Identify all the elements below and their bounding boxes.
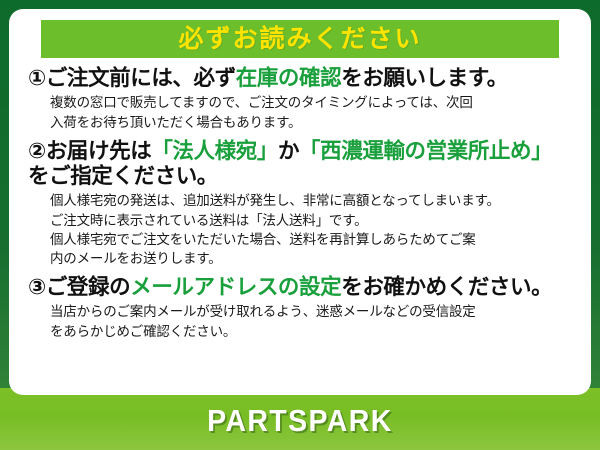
heading-text: をお確かめください。 [341,275,552,299]
notice-body-line: 複数の窓口で販売してますので、ご注文のタイミングによっては、次回 [50,93,572,112]
notice-item-heading: ①ご注文前には、必ず在庫の確認をお願いします。 [28,66,572,91]
notice-body-line: 入荷をお待ち頂いただく場合もあります。 [50,113,572,132]
notice-body-line: 当店からのご案内メールが受け取れるよう、迷惑メールなどの受信設定 [50,302,572,321]
notice-banner: PARTSPARK 必ずお読みください ①ご注文前には、必ず在庫の確認をお願いし… [0,0,600,450]
footer-band: PARTSPARK [0,388,600,450]
notice-body-line: 内のメールをお送りします。 [50,249,572,268]
notice-item: ③ご登録のメールアドレスの設定をお確かめください。当店からのご案内メールが受け取… [28,275,572,341]
notice-item-number: ③ [28,275,46,299]
notice-item-number: ① [28,66,46,90]
highlighted-phrase: 「西濃運輸の営業所止め」 [299,139,552,163]
highlighted-phrase: メールアドレスの設定 [130,275,341,299]
notice-body-line: ご注文時に表示されている送料は「法人送料」です。 [50,211,572,230]
page-title: 必ずお読みください [178,27,421,52]
notice-item-body: 個人様宅宛の発送は、追加送料が発生し、非常に高額となってしまいます。ご注文時に表… [28,191,572,268]
notice-card: 必ずお読みください ①ご注文前には、必ず在庫の確認をお願いします。複数の窓口で販… [9,9,591,395]
heading-text: をお願いします。 [341,66,508,90]
notice-item-number: ② [28,139,46,163]
heading-text: お届け先は [46,139,152,163]
heading-text: をご指定ください。 [28,164,218,188]
notice-item-body: 複数の窓口で販売してますので、ご注文のタイミングによっては、次回入荷をお待ち頂い… [28,93,572,131]
notice-item: ②お届け先は「法人様宛」か「西濃運輸の営業所止め」をご指定ください。個人様宅宛の… [28,139,572,268]
header-band: 必ずお読みください [41,20,559,58]
heading-text: ご注文前には、必ず [46,66,236,90]
highlighted-phrase: 「法人様宛」 [151,139,278,163]
notice-body-line: 個人様宅宛の発送は、追加送料が発生し、非常に高額となってしまいます。 [50,191,572,210]
notice-item: ①ご注文前には、必ず在庫の確認をお願いします。複数の窓口で販売してますので、ご注… [28,66,572,132]
highlighted-phrase: 在庫の確認 [236,66,342,90]
notice-body-line: 個人様宅宛でご注文をいただいた場合、送料を再計算しあらためてご案 [50,230,572,249]
notice-item-heading: ②お届け先は「法人様宛」か「西濃運輸の営業所止め」をご指定ください。 [28,139,572,190]
notice-body-line: をあらかじめご確認ください。 [50,322,572,341]
notice-item-body: 当店からのご案内メールが受け取れるよう、迷惑メールなどの受信設定をあらかじめご確… [28,302,572,340]
heading-text: ご登録の [46,275,130,299]
brand-logo-partspark: PARTSPARK [207,405,393,436]
notice-item-heading: ③ご登録のメールアドレスの設定をお確かめください。 [28,275,572,300]
notice-item-list: ①ご注文前には、必ず在庫の確認をお願いします。複数の窓口で販売してますので、ご注… [23,58,577,341]
heading-text: か [278,139,299,163]
